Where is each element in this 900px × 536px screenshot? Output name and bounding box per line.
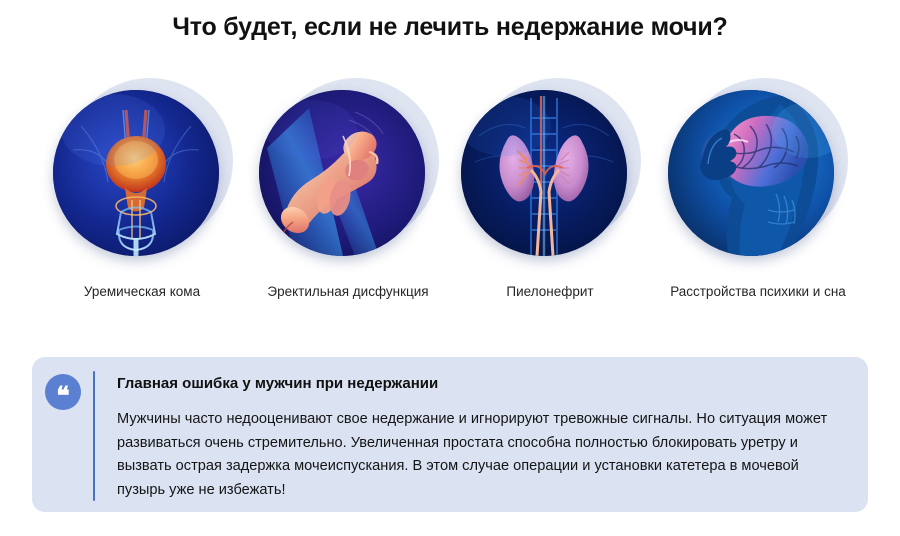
page-title: Что будет, если не лечить недержание моч… [0, 10, 900, 44]
callout-body: Главная ошибка у мужчин при недержании М… [117, 374, 846, 502]
callout-heading: Главная ошибка у мужчин при недержании [117, 374, 846, 394]
head-brain-pain-illustration [668, 90, 834, 256]
consequence-card[interactable]: Эректильная дисфункция [245, 78, 451, 318]
consequence-card[interactable]: Уремическая кома [39, 78, 245, 318]
consequences-card-row: Уремическая кома [0, 78, 900, 318]
penis-anatomy-illustration [259, 90, 425, 256]
card-label: Пиелонефрит [447, 283, 653, 301]
quote-icon: ❝ [45, 374, 81, 410]
card-label: Расстройства психики и сна [648, 283, 868, 301]
consequence-card[interactable]: Расстройства психики и сна [654, 78, 860, 318]
card-label: Эректильная дисфункция [245, 283, 451, 301]
card-label: Уремическая кома [39, 283, 245, 301]
bladder-prostate-illustration [53, 90, 219, 256]
kidneys-illustration [461, 90, 627, 256]
consequence-card[interactable]: Пиелонефрит [447, 78, 653, 318]
main-mistake-callout: ❝ Главная ошибка у мужчин при недержании… [32, 357, 868, 512]
callout-divider [93, 371, 95, 501]
callout-text: Мужчины часто недооценивают свое недержа… [117, 408, 846, 502]
